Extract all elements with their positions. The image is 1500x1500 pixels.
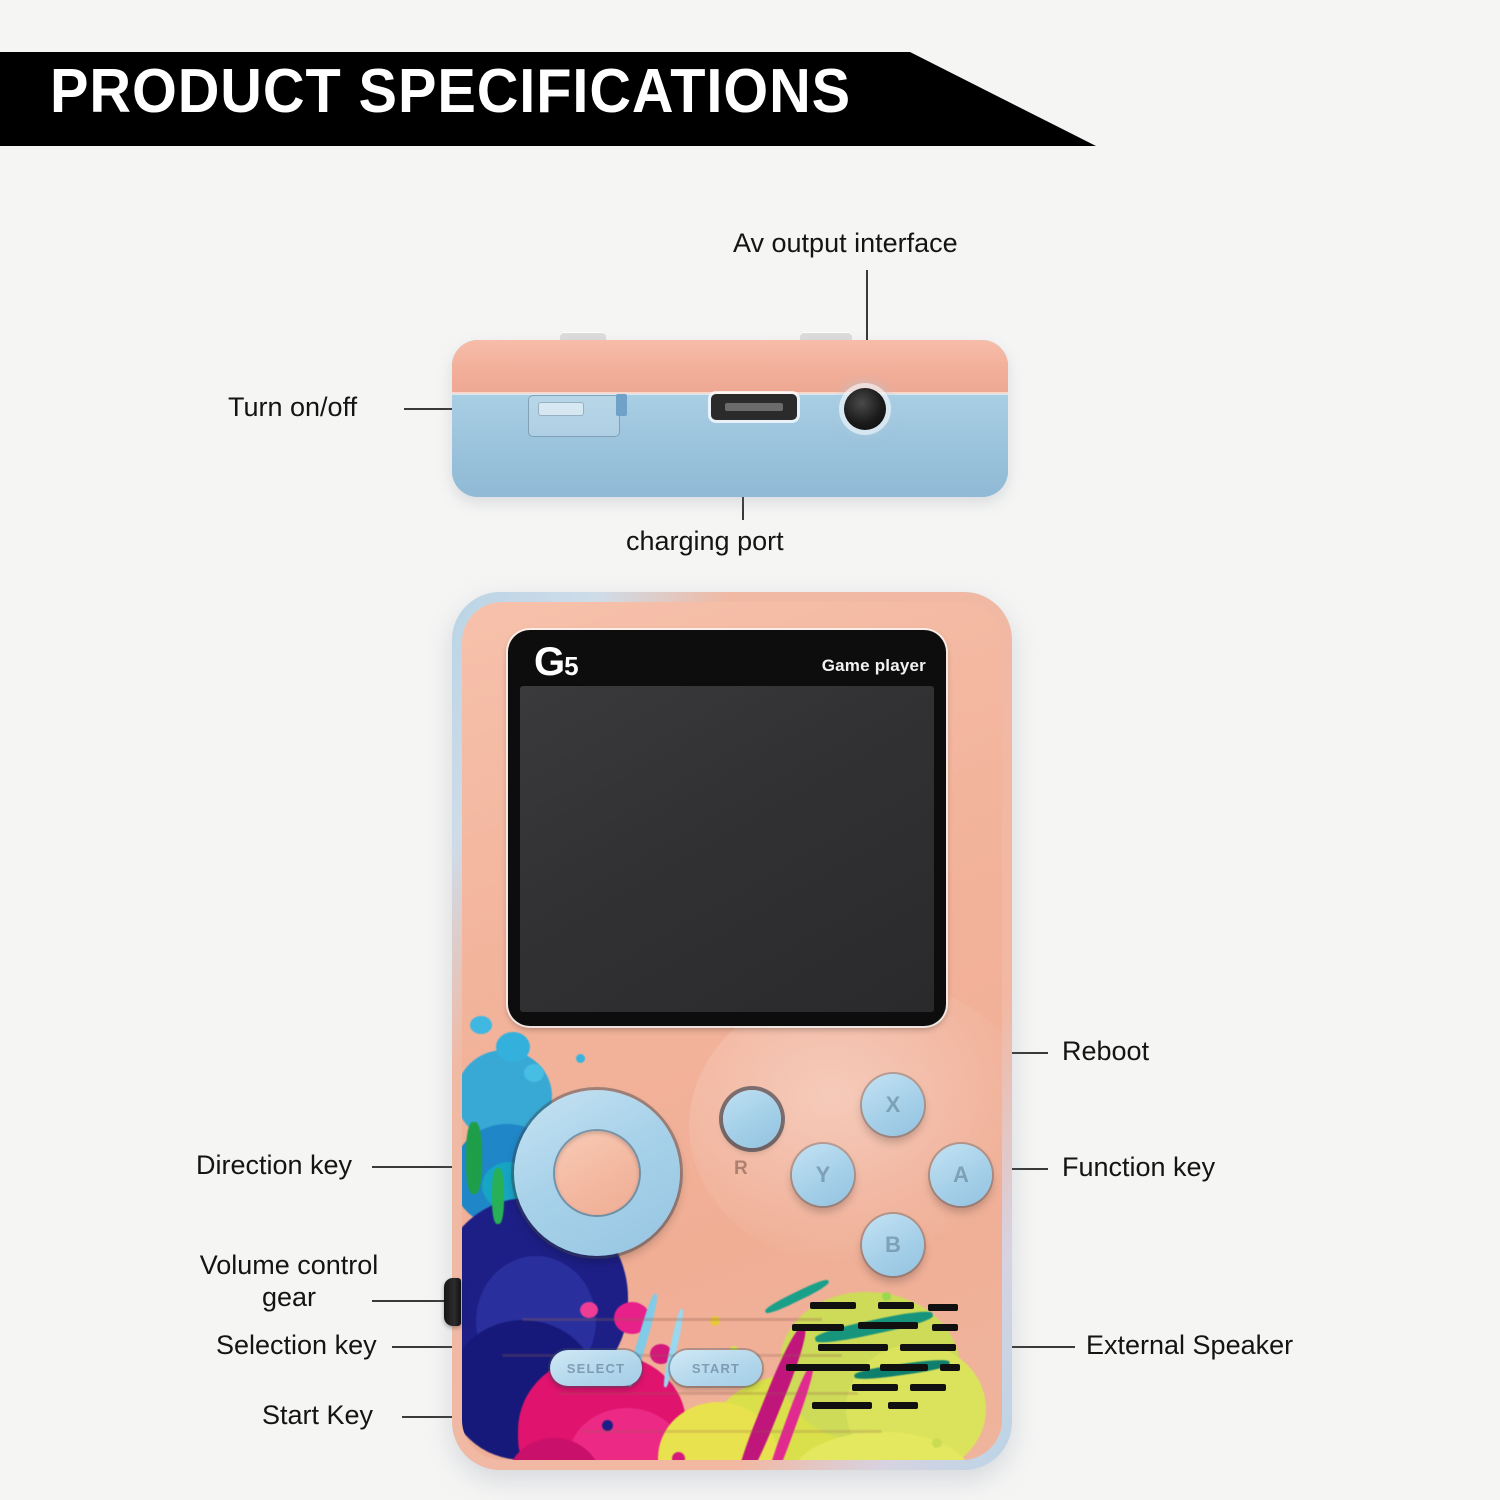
brand-logo-letter: G (534, 640, 564, 684)
selection-key-button[interactable]: SELECT (550, 1350, 642, 1386)
charging-port-micro-usb (711, 394, 797, 420)
callout-label-charging-port: charging port (626, 526, 784, 558)
power-switch-knob[interactable] (538, 402, 584, 416)
callout-label-av-output: Av output interface (733, 228, 958, 260)
device-front-view: G5 Game player R X Y A B SELECT START (452, 592, 1012, 1470)
specification-sheet: PRODUCT SPECIFICATIONS Av output interfa… (0, 0, 1500, 1500)
leader-line-volume-control-gear (372, 1300, 452, 1302)
function-key-x[interactable]: X (862, 1074, 924, 1136)
function-key-b[interactable]: B (862, 1214, 924, 1276)
callout-label-volume-control-gear: Volume controlgear (178, 1250, 400, 1314)
start-key-button[interactable]: START (670, 1350, 762, 1386)
power-switch-notch (616, 394, 627, 416)
callout-label-reboot: Reboot (1062, 1036, 1149, 1068)
volume-label-line2: gear (262, 1282, 316, 1312)
volume-label-line1: Volume control (200, 1250, 379, 1280)
callout-label-selection-key: Selection key (216, 1330, 377, 1362)
direction-key-center[interactable] (555, 1131, 639, 1215)
direction-key-dpad[interactable] (514, 1090, 680, 1256)
av-output-jack (844, 388, 886, 430)
callout-label-direction-key: Direction key (196, 1150, 352, 1182)
page-title: PRODUCT SPECIFICATIONS (50, 56, 851, 127)
volume-control-wheel[interactable] (444, 1278, 461, 1326)
brand-subtitle: Game player (822, 656, 926, 676)
top-view-pink-shell (452, 340, 1008, 394)
brand-logo-number: 5 (564, 651, 577, 681)
function-key-a[interactable]: A (930, 1144, 992, 1206)
brand-logo: G5 (534, 640, 578, 685)
callout-label-turn-on-off: Turn on/off (228, 392, 357, 424)
callout-label-external-speaker: External Speaker (1086, 1330, 1293, 1362)
callout-label-function-key: Function key (1062, 1152, 1215, 1184)
console-face-plate: G5 Game player R X Y A B SELECT START (462, 602, 1002, 1460)
screen-bezel: G5 Game player (508, 630, 946, 1026)
function-key-y[interactable]: Y (792, 1144, 854, 1206)
callout-label-start-key: Start Key (262, 1400, 373, 1432)
reboot-button[interactable] (723, 1090, 781, 1148)
external-speaker-grille (792, 1302, 974, 1422)
device-top-view (452, 340, 1008, 497)
reboot-button-mark: R (734, 1158, 748, 1180)
lcd-screen (520, 686, 934, 1012)
